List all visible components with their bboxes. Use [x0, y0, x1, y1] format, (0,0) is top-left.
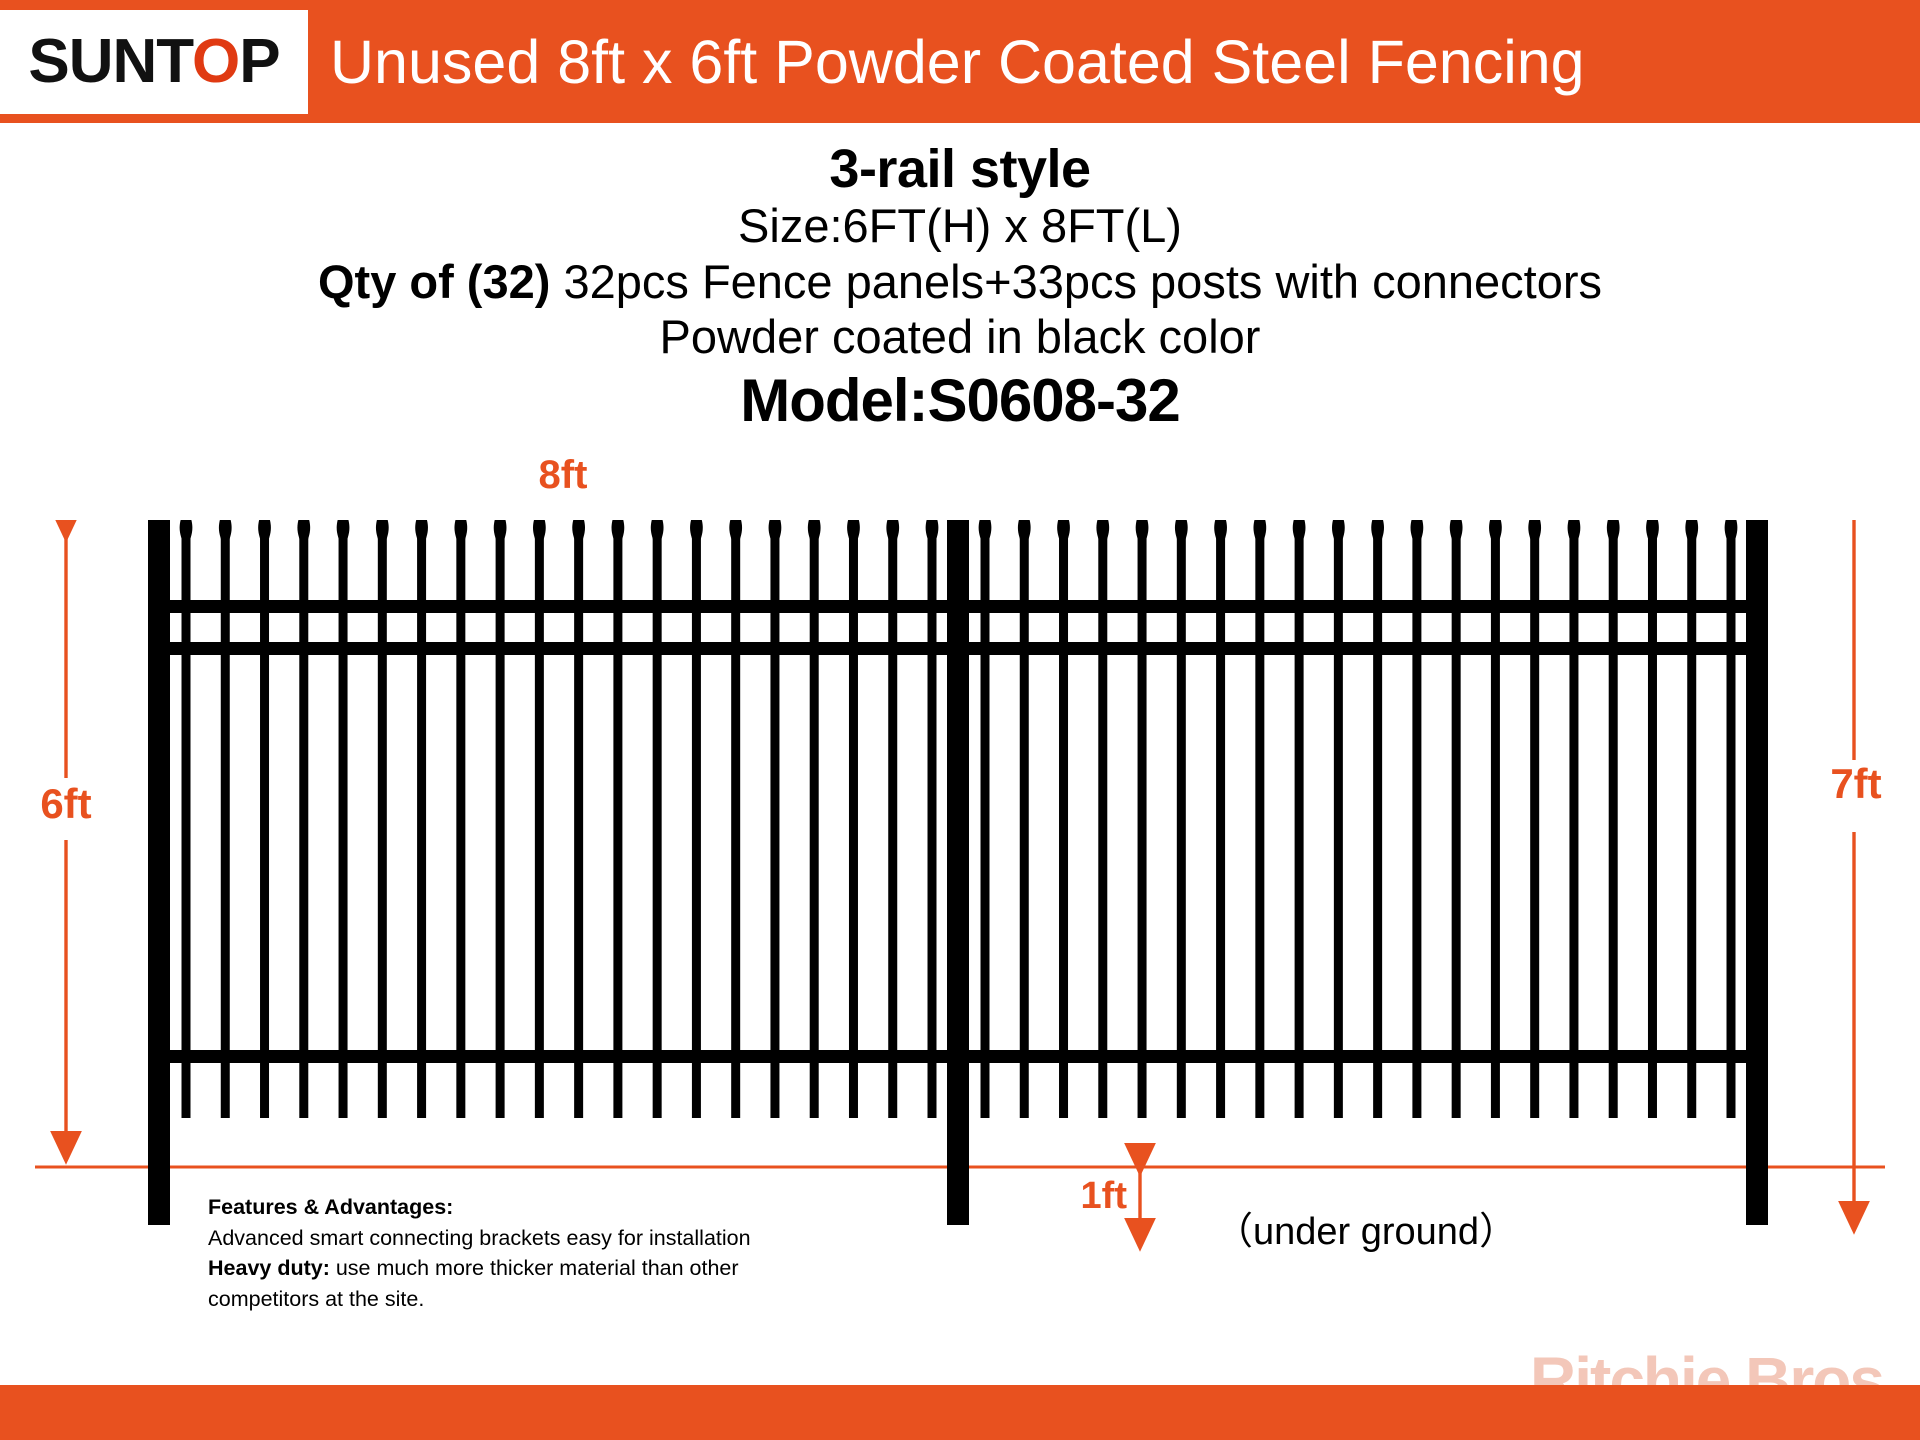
- features-line-3: competitors at the site.: [208, 1284, 928, 1315]
- features-line-2-bold: Heavy duty:: [208, 1256, 330, 1280]
- features-heading: Features & Advantages:: [208, 1192, 928, 1223]
- label-under-ground: （under ground）: [1215, 1200, 1517, 1255]
- features-block: Features & Advantages: Advanced smart co…: [208, 1192, 928, 1314]
- rail-top-1-right: [957, 600, 1757, 613]
- spec-qty-rest: 32pcs Fence panels+33pcs posts with conn…: [550, 255, 1602, 308]
- logo-accent-letter: O: [192, 27, 239, 96]
- spec-qty: Qty of (32) 32pcs Fence panels+33pcs pos…: [0, 254, 1920, 309]
- rail-top-2-right: [957, 642, 1757, 655]
- spec-block: 3-rail style Size:6FT(H) x 8FT(L) Qty of…: [0, 140, 1920, 437]
- logo-text: SUNTOP: [28, 31, 279, 93]
- spec-model: Model:S0608-32: [0, 365, 1920, 437]
- logo-prefix: SUNT: [28, 27, 192, 96]
- spec-style: 3-rail style: [0, 140, 1920, 198]
- spec-coating: Powder coated in black color: [0, 309, 1920, 364]
- rail-bottom-left: [158, 1050, 948, 1063]
- fence-drawing-svg: [0, 520, 1920, 1280]
- rail-bottom-right: [957, 1050, 1757, 1063]
- features-line-1: Advanced smart connecting brackets easy …: [208, 1223, 928, 1254]
- rail-top-1-left: [158, 600, 948, 613]
- label-depth-1ft: 1ft: [1055, 1175, 1127, 1218]
- header-bar: SUNTOP Unused 8ft x 6ft Powder Coated St…: [0, 0, 1920, 123]
- fence-diagram: 8ft 6ft 7ft 1ft: [0, 520, 1920, 1280]
- logo-suffix: P: [239, 27, 279, 96]
- spec-qty-bold: Qty of (32): [318, 255, 550, 308]
- label-height-6ft: 6ft: [20, 780, 112, 828]
- page-title: Unused 8ft x 6ft Powder Coated Steel Fen…: [330, 0, 1585, 123]
- features-line-2: Heavy duty: use much more thicker materi…: [208, 1253, 928, 1284]
- post-right: [1746, 520, 1768, 1225]
- post-middle: [947, 520, 969, 1225]
- rail-top-2-left: [158, 642, 948, 655]
- label-width-8ft: 8ft: [515, 453, 611, 498]
- label-height-7ft: 7ft: [1810, 760, 1902, 808]
- features-line-2-rest: use much more thicker material than othe…: [330, 1256, 739, 1280]
- spec-size: Size:6FT(H) x 8FT(L): [0, 198, 1920, 253]
- post-left: [148, 520, 170, 1225]
- suntop-logo: SUNTOP: [0, 10, 308, 114]
- fence-structure: [148, 520, 1768, 1225]
- footer-bar: [0, 1385, 1920, 1440]
